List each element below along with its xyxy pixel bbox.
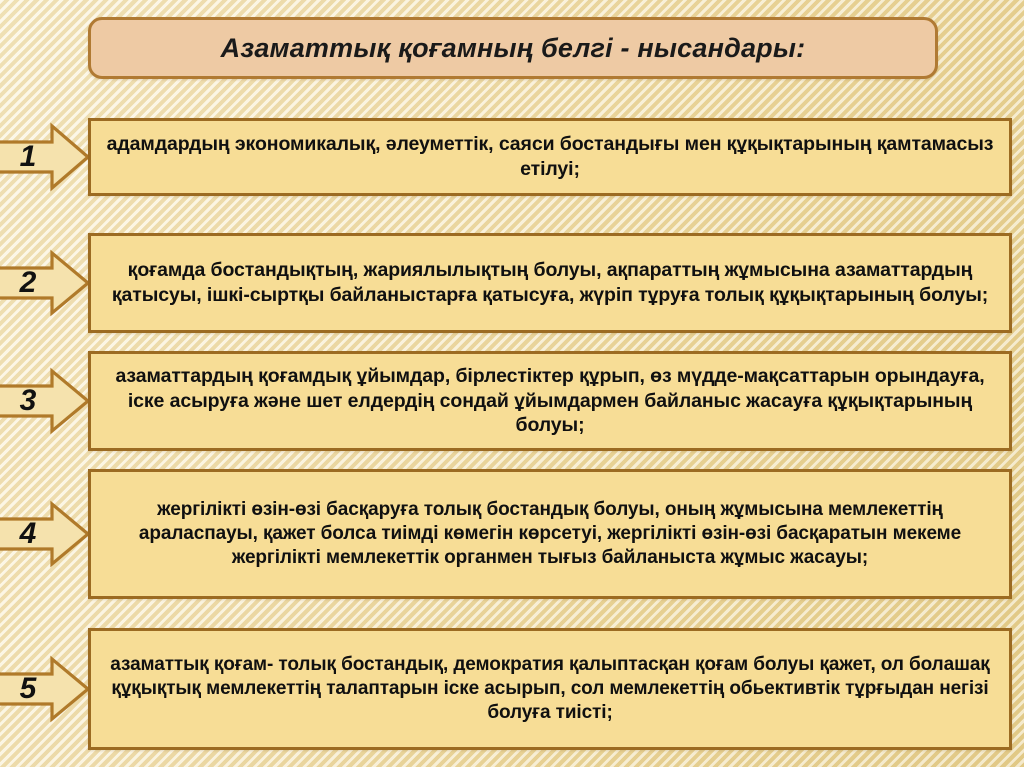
right-arrow-icon [0, 251, 90, 315]
right-arrow-icon [0, 657, 90, 721]
page-title: Азаматтық қоғамның белгі - нысандары: [221, 33, 806, 64]
right-arrow-icon [0, 502, 90, 566]
slide-canvas: Азаматтық қоғамның белгі - нысандары: 1 … [0, 0, 1024, 767]
item-content-box: азаматтардың қоғамдық ұйымдар, бірлестік… [88, 351, 1012, 451]
item-text: қоғамда бостандықтың, жариялылықтың болу… [105, 258, 995, 308]
arrow-marker-3: 3 [0, 369, 90, 433]
item-text: азаматтық қоғам- толық бостандық, демокр… [105, 653, 995, 726]
item-content-box: қоғамда бостандықтың, жариялылықтың болу… [88, 233, 1012, 333]
item-content-box: жергілікті өзін-өзі басқаруға толық бост… [88, 469, 1012, 599]
arrow-marker-4: 4 [0, 502, 90, 566]
item-text: азаматтардың қоғамдық ұйымдар, бірлестік… [105, 364, 995, 439]
item-content-box: азаматтық қоғам- толық бостандық, демокр… [88, 628, 1012, 750]
item-content-box: адамдардың экономикалық, әлеуметтік, сая… [88, 118, 1012, 196]
arrow-marker-5: 5 [0, 657, 90, 721]
right-arrow-icon [0, 124, 90, 190]
slide-title-box: Азаматтық қоғамның белгі - нысандары: [88, 17, 938, 79]
arrow-marker-2: 2 [0, 251, 90, 315]
item-text: адамдардың экономикалық, әлеуметтік, сая… [105, 132, 995, 182]
item-text: жергілікті өзін-өзі басқаруға толық бост… [105, 498, 995, 571]
right-arrow-icon [0, 369, 90, 433]
arrow-marker-1: 1 [0, 124, 90, 190]
